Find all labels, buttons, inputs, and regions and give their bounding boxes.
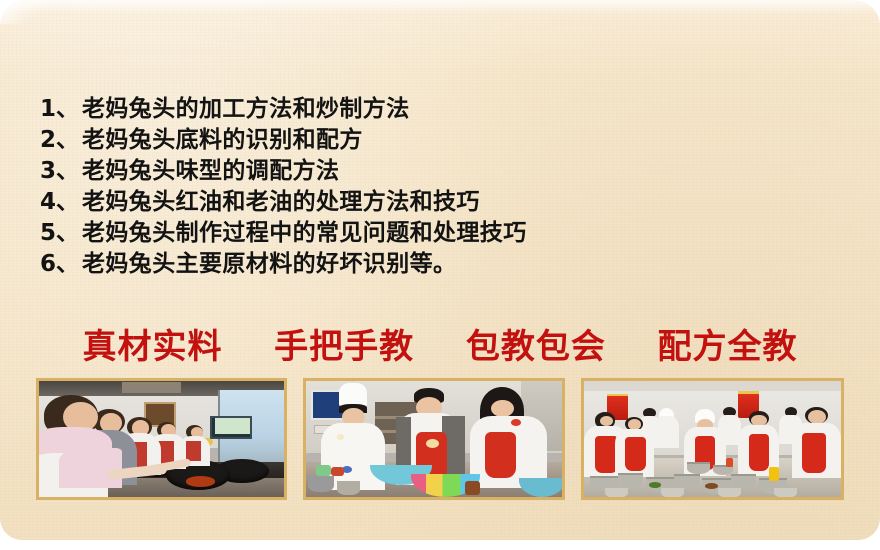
list-item-number: 2、 — [40, 125, 82, 156]
slogan-phrase-3: 包教包会 — [466, 326, 606, 368]
slide-bottom-margin — [0, 540, 880, 550]
slogan-phrase-4: 配方全教 — [658, 326, 798, 368]
photo-strip — [36, 378, 844, 500]
photo-scene — [584, 381, 841, 497]
list-item-label: 老妈兔头主要原材料的好坏识别等。 — [82, 249, 456, 280]
slogan-phrase-1: 真材实料 — [82, 326, 222, 368]
list-item-number: 3、 — [40, 156, 82, 187]
photo-scene — [306, 381, 563, 497]
list-item: 6、 老妈兔头主要原材料的好坏识别等。 — [40, 249, 840, 280]
list-item: 1、 老妈兔头的加工方法和炒制方法 — [40, 94, 840, 125]
slogan-banner: 真材实料 手把手教 包教包会 配方全教 — [0, 326, 880, 368]
list-item-label: 老妈兔头红油和老油的处理方法和技巧 — [82, 187, 480, 218]
list-item-label: 老妈兔头的加工方法和炒制方法 — [82, 94, 410, 125]
list-item: 3、 老妈兔头味型的调配方法 — [40, 156, 840, 187]
list-item-label: 老妈兔头味型的调配方法 — [82, 156, 339, 187]
slide-canvas: 1、 老妈兔头的加工方法和炒制方法 2、 老妈兔头底料的识别和配方 3、 老妈兔… — [0, 0, 880, 550]
paper-top-sheen — [0, 0, 880, 14]
photo-chef-teaching-students — [303, 378, 566, 500]
list-item: 2、 老妈兔头底料的识别和配方 — [40, 125, 840, 156]
slogan-phrase-2: 手把手教 — [274, 326, 414, 368]
list-item: 5、 老妈兔头制作过程中的常见问题和处理技巧 — [40, 218, 840, 249]
paper-corner-highlight — [0, 0, 46, 24]
photo-classroom-practice — [581, 378, 844, 500]
list-item: 4、 老妈兔头红油和老油的处理方法和技巧 — [40, 187, 840, 218]
list-item-number: 5、 — [40, 218, 82, 249]
photo-scene — [39, 381, 284, 497]
course-outline-list: 1、 老妈兔头的加工方法和炒制方法 2、 老妈兔头底料的识别和配方 3、 老妈兔… — [40, 94, 840, 280]
list-item-number: 4、 — [40, 187, 82, 218]
list-item-number: 6、 — [40, 249, 82, 280]
list-item-label: 老妈兔头底料的识别和配方 — [82, 125, 363, 156]
photo-cooking-class-woks — [36, 378, 287, 500]
list-item-number: 1、 — [40, 94, 82, 125]
list-item-label: 老妈兔头制作过程中的常见问题和处理技巧 — [82, 218, 527, 249]
